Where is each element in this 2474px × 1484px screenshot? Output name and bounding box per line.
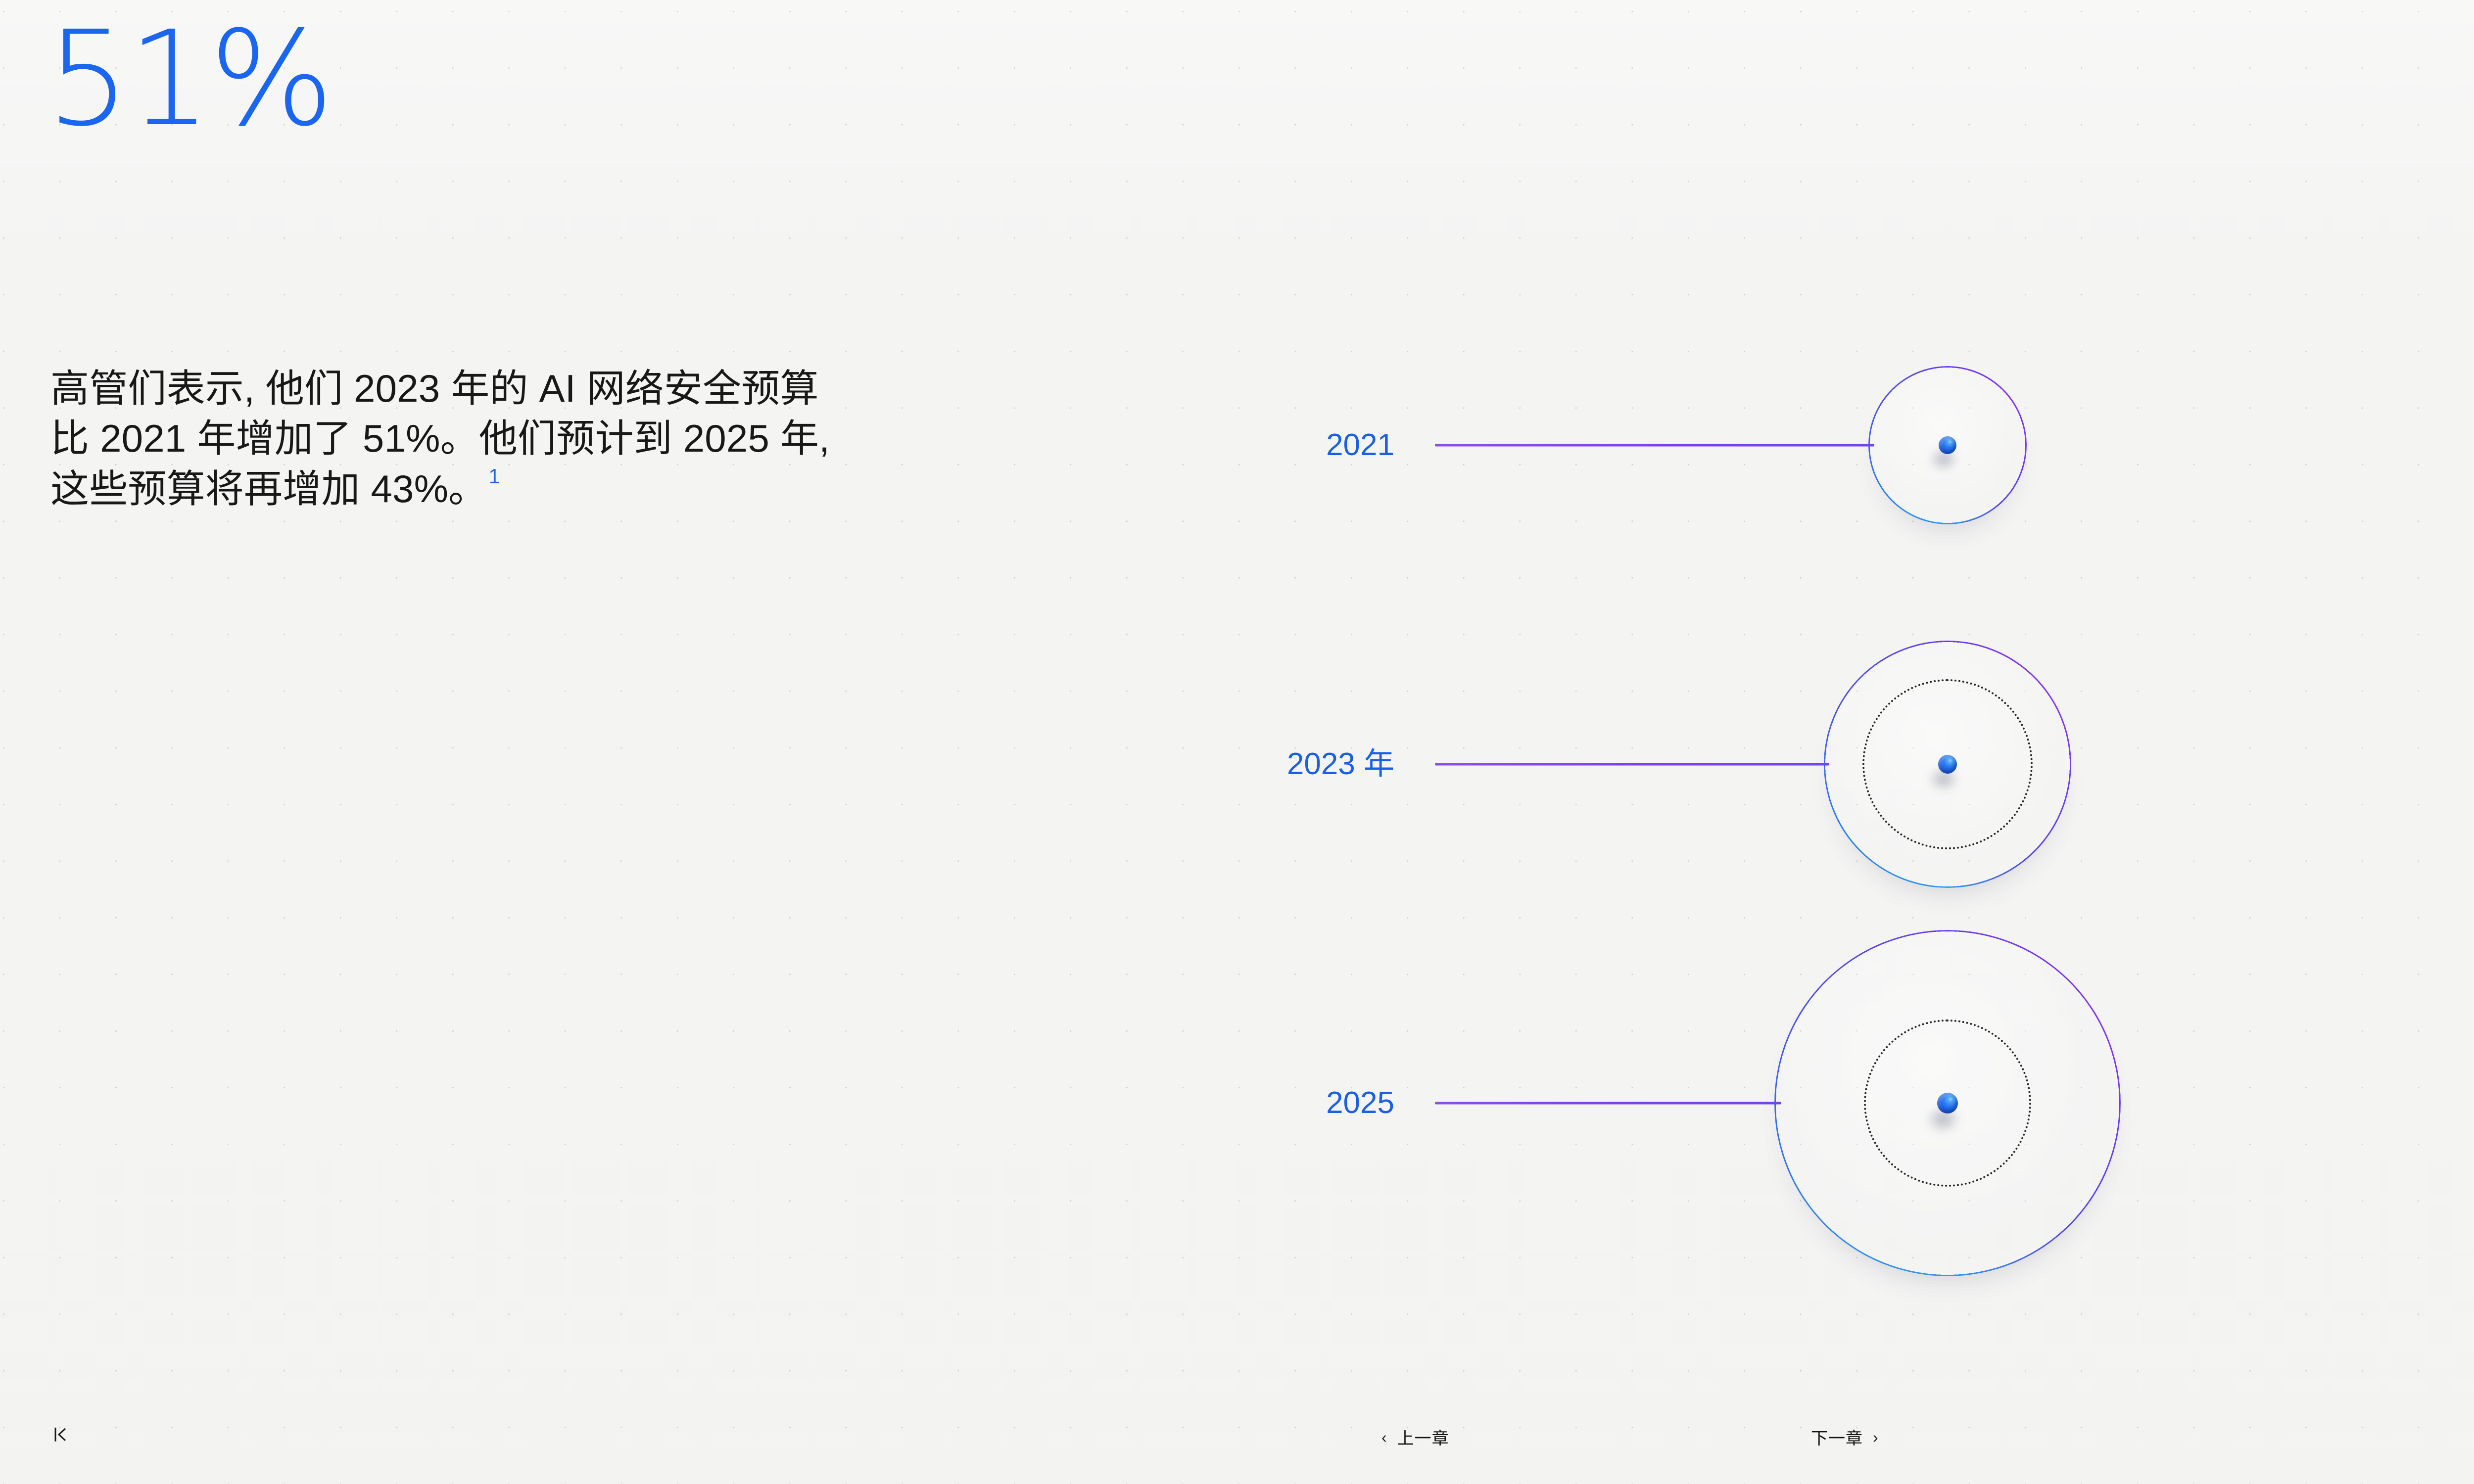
next-chapter-label: 下一章 xyxy=(1811,1425,1863,1449)
bubble-diagram: 20212023 年2025 xyxy=(1286,0,2474,1484)
headline-statistic: 51% xyxy=(47,14,332,145)
skip-to-start-icon xyxy=(53,1425,70,1449)
chevron-left-icon: ‹ xyxy=(1381,1429,1387,1445)
bubble-node-2025: 2025 xyxy=(1286,0,2474,1484)
slide-footer: ‹ 上一章 下一章 › 8 xyxy=(0,1390,2474,1484)
skip-to-start-button[interactable] xyxy=(53,1425,70,1449)
body-paragraph-text: 高管们表示, 他们 2023 年的 AI 网络安全预算比 2021 年增加了 5… xyxy=(50,367,830,510)
bubble-sphere xyxy=(1937,1093,1958,1113)
next-chapter-button[interactable]: 下一章 › xyxy=(1811,1425,1879,1449)
previous-chapter-button[interactable]: ‹ 上一章 xyxy=(1381,1425,1449,1449)
footnote-reference[interactable]: 1 xyxy=(488,464,500,488)
previous-chapter-label: 上一章 xyxy=(1397,1425,1449,1449)
body-paragraph: 高管们表示, 他们 2023 年的 AI 网络安全预算比 2021 年增加了 5… xyxy=(50,364,852,514)
left-content-column: 51% 高管们表示, 他们 2023 年的 AI 网络安全预算比 2021 年增… xyxy=(49,0,891,1484)
chevron-right-icon: › xyxy=(1873,1429,1879,1445)
bubble-leader-line xyxy=(1435,1102,1781,1105)
bubble-year-label: 2025 xyxy=(1326,1088,1394,1118)
